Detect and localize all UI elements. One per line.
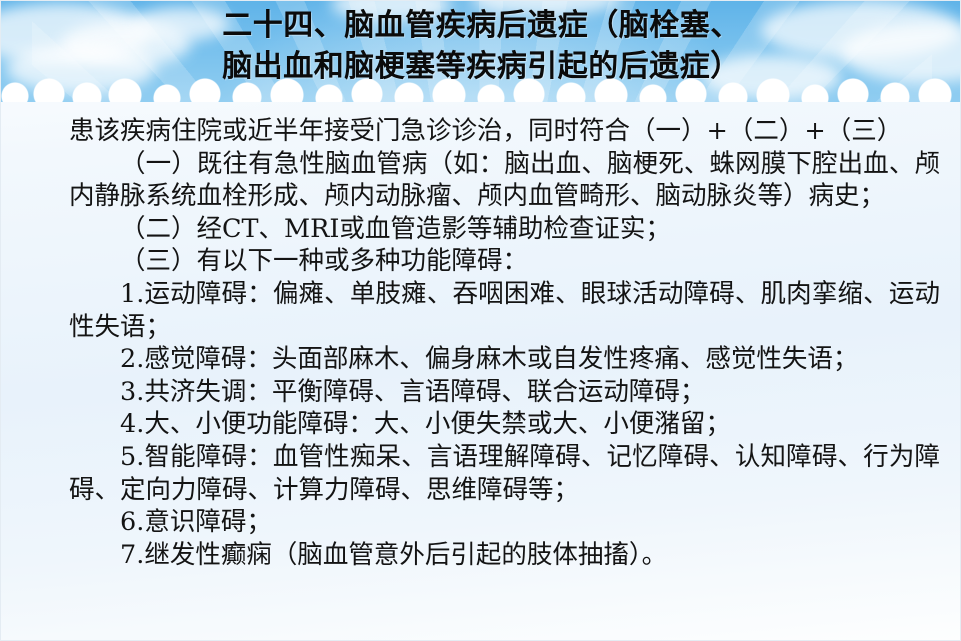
paragraph-item-2: 2.感觉障碍：头面部麻木、偏身麻木或自发性疼痛、感觉性失语； — [69, 343, 940, 376]
content-body: 患该疾病住院或近半年接受门急诊诊治，同时符合（一）+（二）+（三） （一）既往有… — [1, 102, 961, 641]
page-title: 二十四、脑血管疾病后遗症（脑栓塞、 脑出血和脑梗塞等疾病引起的后遗症） — [1, 5, 961, 87]
page-title-line-1: 二十四、脑血管疾病后遗症（脑栓塞、 — [1, 5, 961, 46]
slide: 二十四、脑血管疾病后遗症（脑栓塞、 脑出血和脑梗塞等疾病引起的后遗症） 患该疾病… — [0, 0, 961, 641]
paragraph-item-3: 3.共济失调：平衡障碍、言语障碍、联合运动障碍； — [69, 376, 940, 409]
paragraph-item-6: 6.意识障碍； — [69, 506, 940, 539]
paragraph-criterion-1: （一）既往有急性脑血管病（如：脑出血、脑梗死、蛛网膜下腔出血、颅内静脉系统血栓形… — [69, 148, 940, 213]
paragraph-item-4: 4.大、小便功能障碍：大、小便失禁或大、小便潴留； — [69, 408, 940, 441]
paragraph-criterion-2: （二）经CT、MRI或血管造影等辅助检查证实； — [69, 213, 940, 246]
page-title-line-2: 脑出血和脑梗塞等疾病引起的后遗症） — [1, 46, 961, 87]
paragraph-item-1: 1.运动障碍：偏瘫、单肢瘫、吞咽困难、眼球活动障碍、肌肉挛缩、运动性失语； — [69, 278, 940, 343]
paragraph-item-5: 5.智能障碍：血管性痴呆、言语理解障碍、记忆障碍、认知障碍、行为障碍、定向力障碍… — [69, 441, 940, 506]
paragraph-criterion-3: （三）有以下一种或多种功能障碍： — [69, 245, 940, 278]
paragraph-intro: 患该疾病住院或近半年接受门急诊诊治，同时符合（一）+（二）+（三） — [69, 115, 940, 148]
banner-header: 二十四、脑血管疾病后遗症（脑栓塞、 脑出血和脑梗塞等疾病引起的后遗症） — [1, 1, 961, 102]
paragraph-item-7: 7.继发性癫痫（脑血管意外后引起的肢体抽搐）。 — [69, 539, 940, 572]
